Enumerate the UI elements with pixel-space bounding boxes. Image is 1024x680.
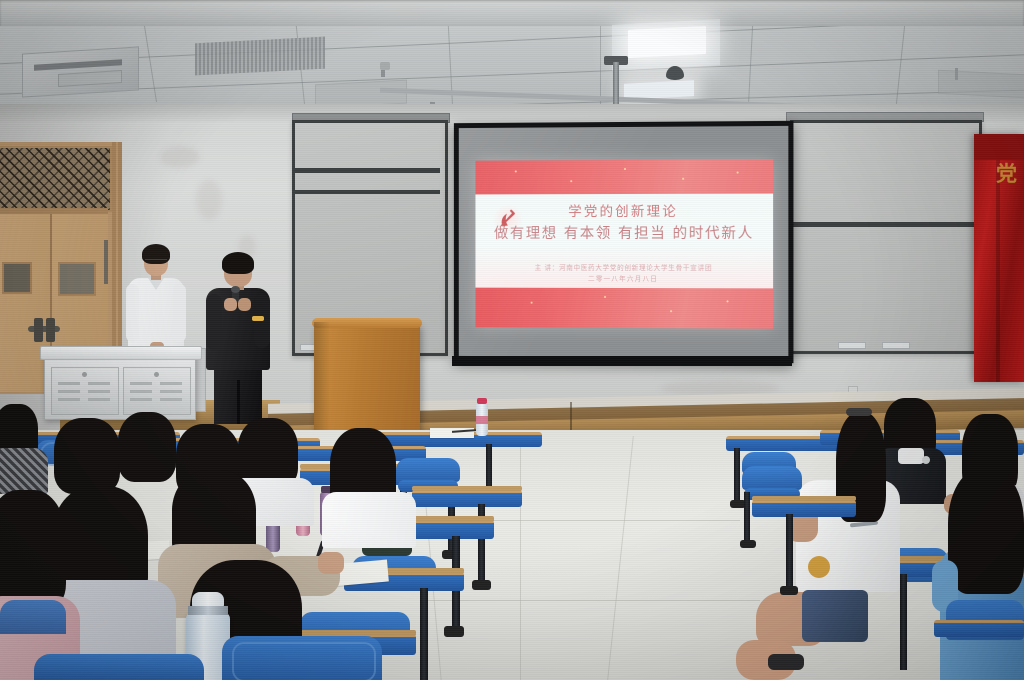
whiteboard-left-bar <box>294 190 440 194</box>
desk <box>752 500 856 517</box>
presenter-arm <box>173 284 186 342</box>
chair <box>0 600 66 634</box>
console-vent <box>160 390 182 393</box>
student-hair <box>948 468 1024 594</box>
smoke-detector-icon <box>380 62 390 70</box>
projection-screen: 学党的创新理论 做有理想 有本领 有担当 的时代新人 主 讲：河南中医药大学党的… <box>454 121 794 363</box>
console-vent <box>88 398 110 401</box>
door-transom-grille <box>0 146 112 212</box>
podium-shadow <box>314 322 330 432</box>
whiteboard-left-bar <box>294 168 440 173</box>
student-torso-plaid <box>0 448 48 494</box>
student-hair <box>0 490 66 610</box>
wall-stain <box>196 180 222 220</box>
student-accessory <box>922 456 930 464</box>
gray-metal-console[interactable] <box>44 352 196 420</box>
smoke-detector-stem <box>381 70 385 77</box>
desk-edge <box>412 486 522 491</box>
door-handle-icon[interactable] <box>34 318 43 342</box>
presenter-black-shirt <box>206 252 272 420</box>
console-vent <box>130 382 152 385</box>
whiteboard-tray <box>882 342 910 349</box>
desk <box>934 620 1024 637</box>
desk-edge <box>752 496 856 501</box>
wall-stain <box>160 146 200 168</box>
door-handle-bar[interactable] <box>28 326 60 332</box>
eyeglasses-icon <box>145 259 167 264</box>
microphone-head-icon <box>231 286 240 293</box>
presenter-arm <box>254 294 270 348</box>
presenter-hand <box>238 298 251 311</box>
floor-tile-line <box>420 600 760 601</box>
presenter-hand <box>224 298 237 311</box>
console-vent <box>58 398 80 401</box>
console-vent <box>130 398 152 401</box>
presenter-arm <box>206 294 222 350</box>
desk-foot <box>780 586 798 595</box>
thermos-band <box>188 606 228 615</box>
classroom-photo-scene: 学党的创新理论 做有理想 有本领 有担当 的时代新人 主 讲：河南中医药大学党的… <box>0 0 1024 680</box>
red-banner-header <box>974 134 1024 160</box>
console-knob[interactable] <box>82 372 87 377</box>
whiteboard-right[interactable] <box>790 120 982 354</box>
chair <box>742 466 802 490</box>
student-torso <box>322 492 416 548</box>
console-vent <box>58 390 80 393</box>
desk <box>412 490 522 507</box>
console-vent <box>160 382 182 385</box>
door-window <box>58 262 96 296</box>
screen-glare <box>459 126 789 358</box>
desk-leg <box>744 492 750 544</box>
student-hair <box>54 418 120 494</box>
bottle-cap <box>477 398 487 404</box>
whiteboard-tray <box>838 342 866 349</box>
ceiling-beam <box>0 0 1024 26</box>
chair <box>396 458 460 482</box>
console-vent <box>58 382 80 385</box>
ceiling-vent-panel <box>938 70 1024 99</box>
console-door[interactable] <box>51 367 119 415</box>
door-window <box>2 262 32 294</box>
desk-leg <box>786 514 793 592</box>
desk-foot <box>740 540 756 548</box>
console-knob[interactable] <box>154 372 159 377</box>
red-banner-text: 党 <box>996 158 1017 188</box>
stage-seam <box>570 402 572 432</box>
red-banner-fold <box>996 160 1000 382</box>
student-collar <box>898 448 924 464</box>
desk-leg <box>734 448 740 504</box>
console-vent <box>88 382 110 385</box>
dome-security-camera-icon <box>666 66 684 80</box>
desk-foot <box>472 580 491 590</box>
presenter-hair <box>222 252 254 274</box>
projection-screen-surface: 学党的创新理论 做有理想 有本领 有担当 的时代新人 主 讲：河南中医药大学党的… <box>459 126 789 358</box>
chair-rim <box>232 642 376 680</box>
presenter-leg-split <box>237 380 240 424</box>
ceiling-fluorescent-light-icon <box>628 26 706 58</box>
ceiling-hook <box>955 68 958 80</box>
ceiling-vent-grill <box>195 37 325 76</box>
denim-shorts <box>802 590 868 642</box>
desk-leg <box>900 574 907 670</box>
console-vent <box>88 390 110 393</box>
whiteboard-right-bar <box>792 222 974 227</box>
desk-leg <box>420 588 428 680</box>
floor-tile-line <box>520 436 521 680</box>
projection-screen-bottom-bar <box>452 356 792 366</box>
door-hinge <box>104 240 108 284</box>
bottle-label <box>476 416 488 424</box>
chair <box>34 654 204 680</box>
console-vent <box>160 398 182 401</box>
hair-tie <box>846 408 872 416</box>
desk-foot <box>444 626 464 637</box>
presenter-wrist-band <box>252 316 264 321</box>
bag-accessory <box>808 556 830 578</box>
door-handle-icon[interactable] <box>46 318 55 342</box>
presenter-arm <box>126 284 139 342</box>
console-top-surface <box>40 346 202 360</box>
shoe <box>768 654 804 670</box>
console-vent <box>130 390 152 393</box>
student-hand <box>318 552 344 574</box>
console-door[interactable] <box>123 367 191 415</box>
student-hair <box>118 412 176 482</box>
